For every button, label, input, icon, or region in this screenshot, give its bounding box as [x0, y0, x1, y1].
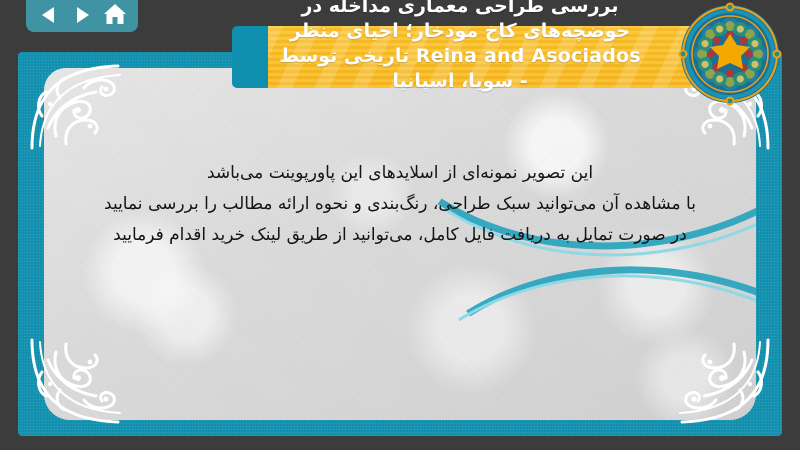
persian-medallion-icon	[678, 2, 782, 106]
slide-body-text: این تصویر نمونه‌ای از اسلایدهای این پاور…	[44, 158, 756, 251]
slide-viewer: ◀ ▶ ⌂ این تصویر نمونه‌ای از اسلایدهای ای…	[0, 0, 800, 450]
title-line-1: بررسی طراحی معماری مداخله در	[210, 0, 710, 19]
next-slide-button[interactable]: ▶	[69, 3, 95, 27]
slide-frame: این تصویر نمونه‌ای از اسلایدهای این پاور…	[18, 52, 782, 436]
body-line-1: این تصویر نمونه‌ای از اسلایدهای این پاور…	[104, 158, 696, 189]
home-button[interactable]: ⌂	[102, 3, 128, 27]
decor-arc-bottom	[347, 231, 756, 420]
banner-tab	[232, 26, 268, 88]
decor-arc-bottom-light	[339, 239, 756, 420]
previous-slide-button[interactable]: ◀	[36, 3, 62, 27]
banner-body	[268, 26, 720, 88]
navigation-bar: ◀ ▶ ⌂	[26, 0, 138, 32]
body-line-3: در صورت تمایل به دریافت فایل کامل، می‌تو…	[104, 220, 696, 251]
home-icon	[102, 3, 128, 27]
triangle-right-icon	[71, 5, 93, 25]
triangle-left-icon	[38, 5, 60, 25]
title-banner	[232, 26, 720, 88]
slide-content-panel: این تصویر نمونه‌ای از اسلایدهای این پاور…	[44, 68, 756, 420]
body-line-2: با مشاهده آن می‌توانید سبک طراحی، رنگ‌بن…	[104, 189, 696, 220]
